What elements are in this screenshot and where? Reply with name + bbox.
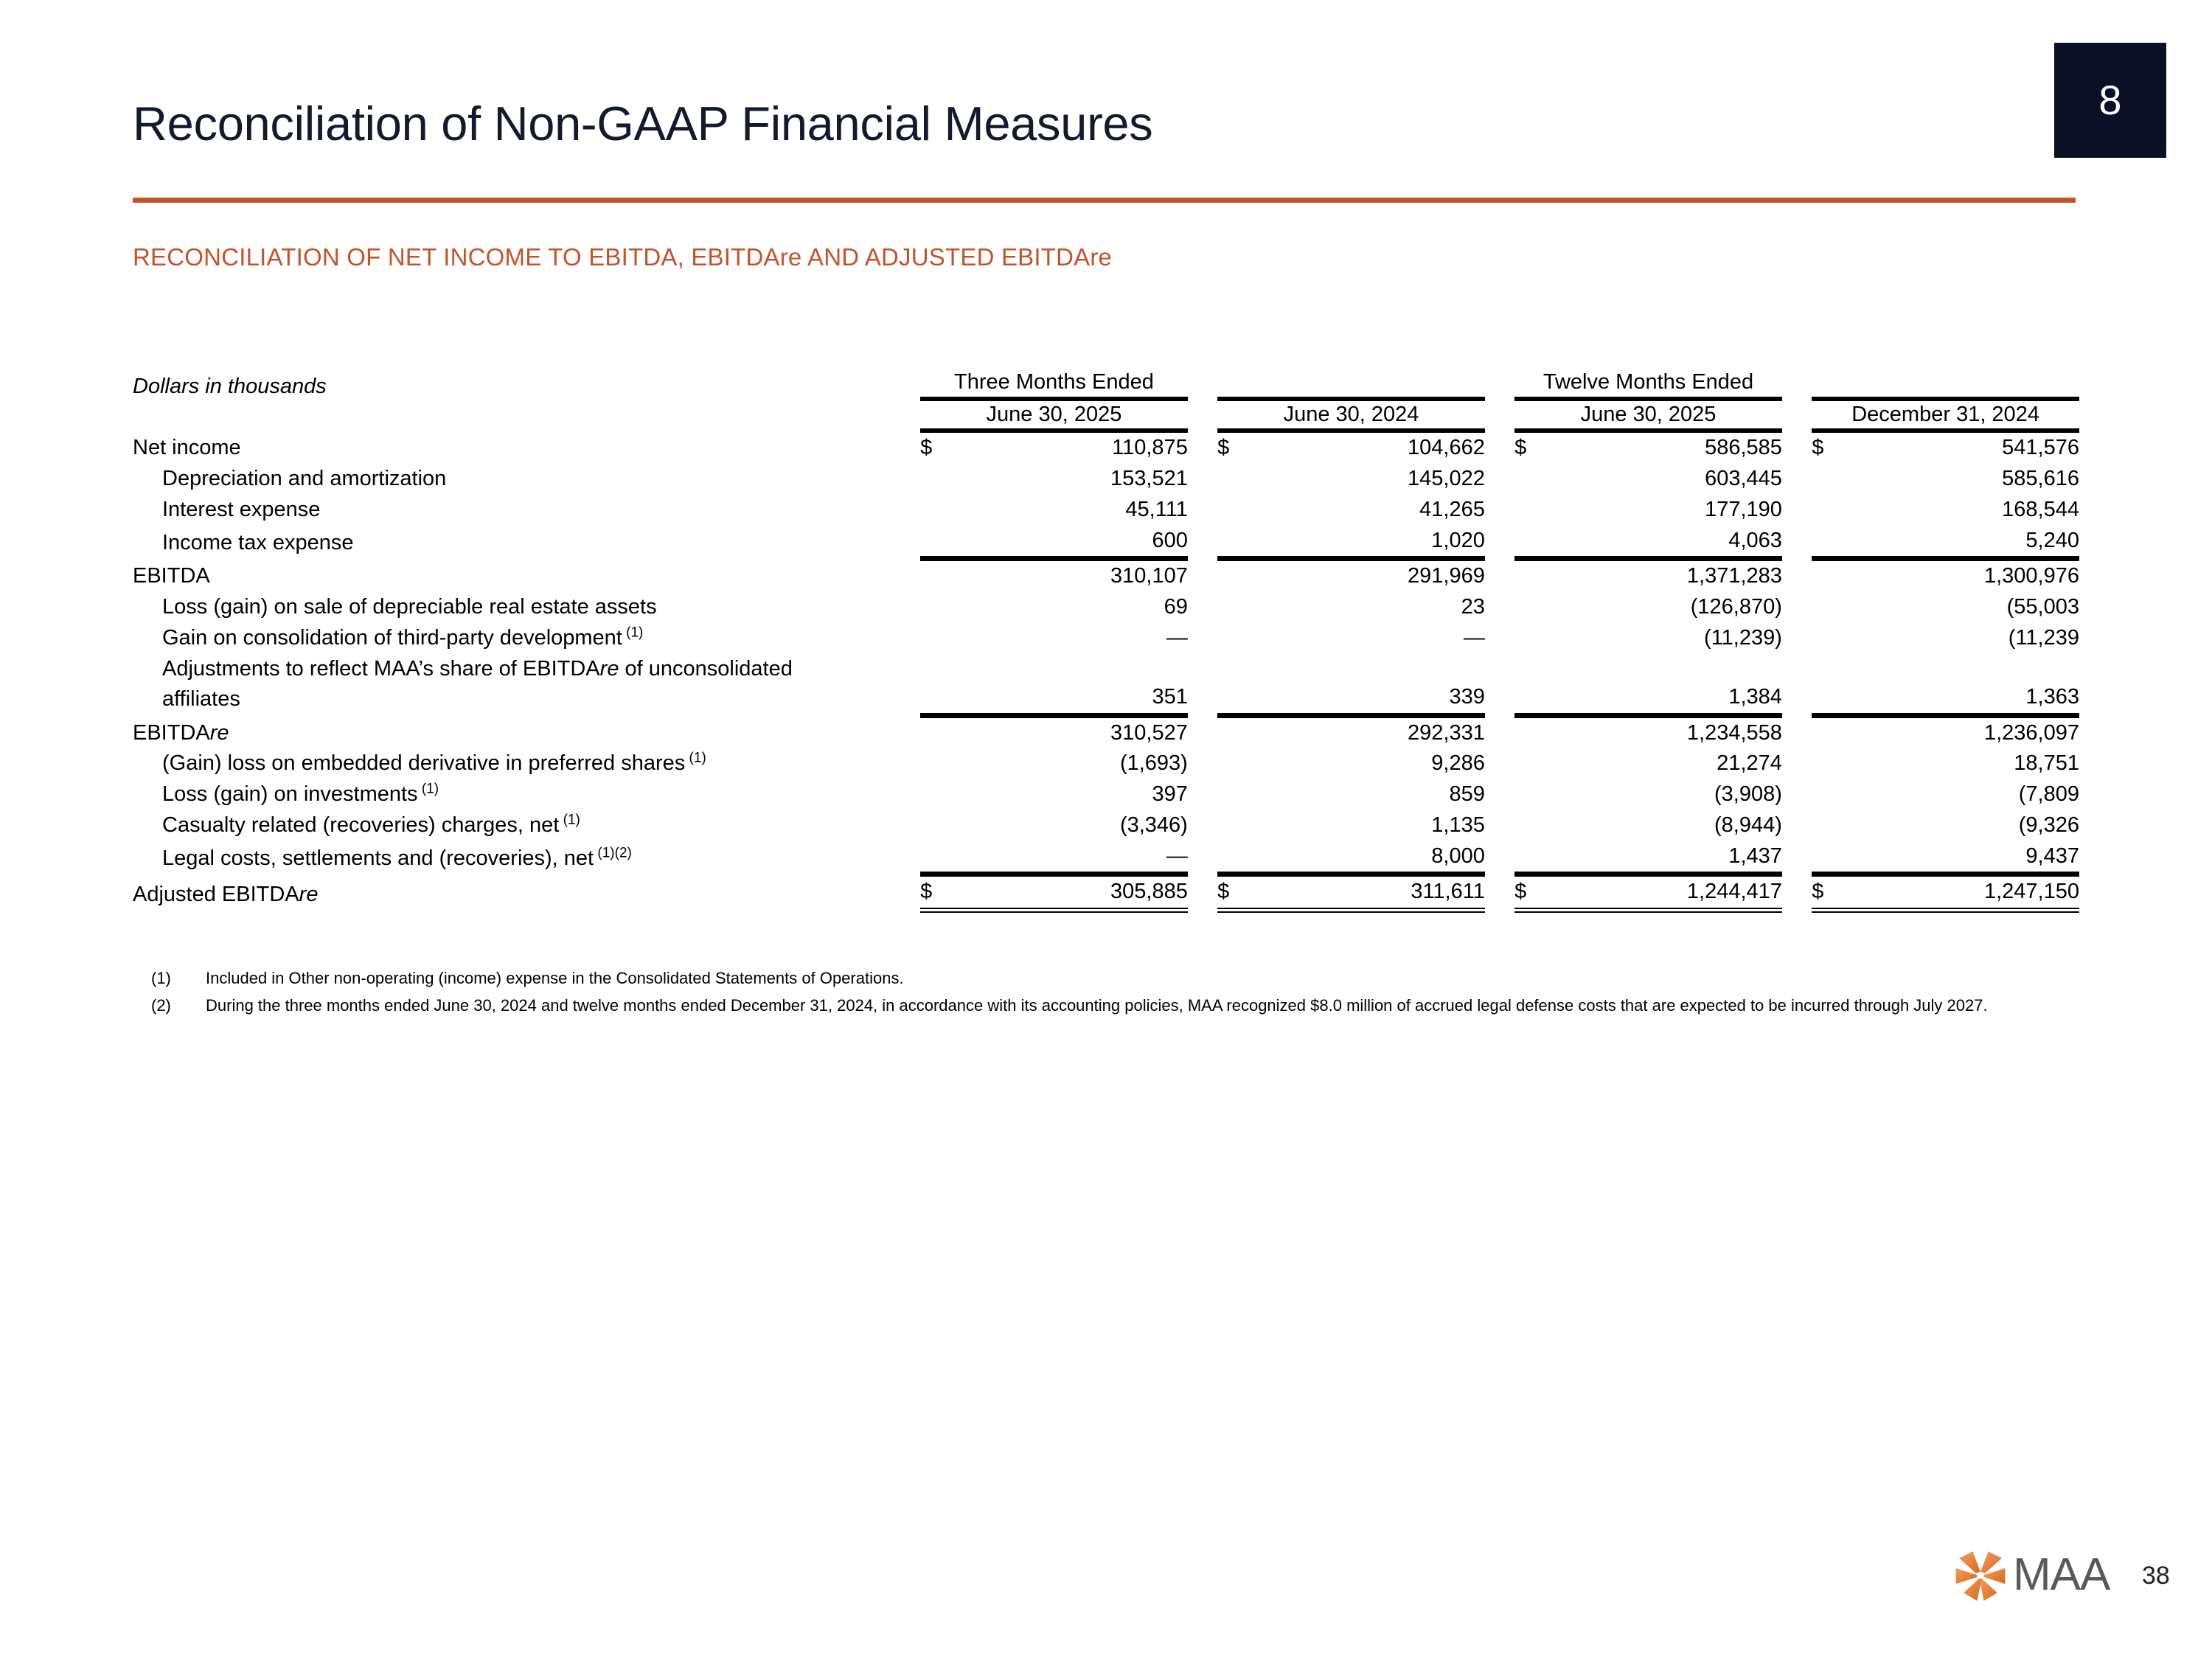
row-label: Legal costs, settlements and (recoveries… <box>133 841 920 874</box>
reconciliation-table: Dollars in thousands Three Months Ended … <box>133 369 2079 913</box>
page-title: Reconciliation of Non-GAAP Financial Mea… <box>133 96 1152 151</box>
currency-symbol <box>1217 592 1253 623</box>
cell-value: 600 <box>956 526 1187 559</box>
cell-value: 1,244,417 <box>1551 874 1782 911</box>
currency-symbol <box>920 623 956 654</box>
currency-symbol <box>1217 748 1253 779</box>
column-gap <box>1188 526 1217 559</box>
currency-symbol <box>1812 748 1847 779</box>
cell-value: 1,371,283 <box>1551 559 1782 592</box>
cell-value: 339 <box>1253 654 1484 716</box>
column-gap <box>1188 715 1217 748</box>
currency-symbol <box>1514 841 1550 874</box>
footnote: (1)Included in Other non-operating (inco… <box>151 966 2098 991</box>
table-row: Income tax expense6001,0204,0635,240 <box>133 526 2079 559</box>
cell-value: 153,521 <box>956 464 1187 495</box>
cell-value: 541,576 <box>1848 431 2079 464</box>
cell-value: (8,944) <box>1551 810 1782 841</box>
currency-symbol: $ <box>1217 431 1253 464</box>
column-gap <box>1485 592 1514 623</box>
cell-value: 177,190 <box>1551 495 1782 526</box>
cell-value: 9,286 <box>1253 748 1484 779</box>
currency-symbol <box>1217 623 1253 654</box>
currency-symbol <box>920 810 956 841</box>
column-gap <box>1782 559 1812 592</box>
column-gap <box>1782 715 1812 748</box>
column-header-2: June 30, 2025 <box>1514 399 1782 431</box>
row-label: Casualty related (recoveries) charges, n… <box>133 810 920 841</box>
footnote-marker: (1) <box>559 812 580 827</box>
cell-value: 4,063 <box>1551 526 1782 559</box>
cell-value: 5,240 <box>1848 526 2079 559</box>
cell-value: 586,585 <box>1551 431 1782 464</box>
currency-symbol <box>1812 526 1847 559</box>
currency-symbol: $ <box>1812 431 1847 464</box>
row-label: Income tax expense <box>133 526 920 559</box>
row-label: Loss (gain) on investments (1) <box>133 779 920 810</box>
currency-symbol <box>1217 779 1253 810</box>
column-gap <box>1782 464 1812 495</box>
column-gap <box>1188 874 1217 911</box>
cell-value: 351 <box>956 654 1187 716</box>
group-header-three-months: Three Months Ended <box>920 369 1188 399</box>
table-row: Casualty related (recoveries) charges, n… <box>133 810 2079 841</box>
column-header-0: June 30, 2025 <box>920 399 1188 431</box>
currency-symbol <box>1514 623 1550 654</box>
column-gap <box>1188 495 1217 526</box>
table-row: Adjustments to reflect MAA’s share of EB… <box>133 654 2079 716</box>
row-label: Adjustments to reflect MAA’s share of EB… <box>133 654 920 716</box>
row-label: Net income <box>133 431 920 464</box>
row-label: Adjusted EBITDAre <box>133 874 920 911</box>
currency-symbol <box>1812 779 1847 810</box>
cell-value: 41,265 <box>1253 495 1484 526</box>
currency-symbol <box>920 526 956 559</box>
page-badge-number: 8 <box>2098 80 2121 121</box>
column-gap <box>1782 841 1812 874</box>
currency-symbol: $ <box>920 874 956 911</box>
section-heading: RECONCILIATION OF NET INCOME TO EBITDA, … <box>133 243 1112 271</box>
column-gap <box>1485 431 1514 464</box>
currency-symbol <box>1812 841 1847 874</box>
currency-symbol <box>920 748 956 779</box>
cell-value: 21,274 <box>1551 748 1782 779</box>
cell-value: — <box>956 841 1187 874</box>
cell-value: 9,437 <box>1848 841 2079 874</box>
table-row: Adjusted EBITDAre$305,885$311,611$1,244,… <box>133 874 2079 911</box>
currency-symbol <box>1514 592 1550 623</box>
group-header-twelve-months-2 <box>1812 369 2079 399</box>
column-gap <box>1485 559 1514 592</box>
cell-value: 585,616 <box>1848 464 2079 495</box>
cell-value: 110,875 <box>956 431 1187 464</box>
cell-value: 1,135 <box>1253 810 1484 841</box>
column-gap <box>1782 431 1812 464</box>
table-row: Loss (gain) on sale of depreciable real … <box>133 592 2079 623</box>
units-note: Dollars in thousands <box>133 369 920 399</box>
cell-value: 859 <box>1253 779 1484 810</box>
row-label: Interest expense <box>133 495 920 526</box>
cell-value: (7,809 <box>1848 779 2079 810</box>
currency-symbol <box>1217 526 1253 559</box>
column-gap <box>1782 526 1812 559</box>
footnote-marker: (1) <box>418 781 439 796</box>
cell-value: 18,751 <box>1848 748 2079 779</box>
column-gap <box>1485 748 1514 779</box>
column-gap <box>1485 464 1514 495</box>
cell-value: 8,000 <box>1253 841 1484 874</box>
currency-symbol <box>1514 810 1550 841</box>
cell-value: 1,300,976 <box>1848 559 2079 592</box>
column-header-3: December 31, 2024 <box>1812 399 2079 431</box>
currency-symbol <box>1812 715 1847 748</box>
group-gap-3 <box>1782 369 1812 399</box>
row-label: Loss (gain) on sale of depreciable real … <box>133 592 920 623</box>
table-body: Net income$110,875$104,662$586,585$541,5… <box>133 431 2079 910</box>
colhead-gap-2 <box>1485 399 1514 431</box>
currency-symbol <box>1812 495 1847 526</box>
column-gap <box>1188 559 1217 592</box>
cell-value: (126,870) <box>1551 592 1782 623</box>
footnote-marker: (1)(2) <box>594 845 632 860</box>
footnote-mark: (1) <box>151 966 206 991</box>
footnote-mark: (2) <box>151 993 206 1018</box>
cell-value: 69 <box>956 592 1187 623</box>
footnote: (2)During the three months ended June 30… <box>151 993 2098 1018</box>
column-gap <box>1485 654 1514 716</box>
column-gap <box>1485 526 1514 559</box>
column-gap <box>1485 841 1514 874</box>
cell-value: 1,384 <box>1551 654 1782 716</box>
column-gap <box>1485 495 1514 526</box>
footnotes-block: (1)Included in Other non-operating (inco… <box>151 966 2098 1020</box>
column-gap <box>1188 779 1217 810</box>
row-label: Depreciation and amortization <box>133 464 920 495</box>
row-label: EBITDAre <box>133 715 920 748</box>
cell-value: 603,445 <box>1551 464 1782 495</box>
currency-symbol <box>1217 654 1253 716</box>
column-gap <box>1188 623 1217 654</box>
page-badge: 8 <box>2054 43 2166 158</box>
title-divider <box>133 198 2076 203</box>
currency-symbol: $ <box>1514 431 1550 464</box>
currency-symbol <box>920 654 956 716</box>
colhead-gap-3 <box>1782 399 1812 431</box>
financial-table-container: Dollars in thousands Three Months Ended … <box>133 369 2079 913</box>
cell-value: 45,111 <box>956 495 1187 526</box>
currency-symbol <box>1514 748 1550 779</box>
column-gap <box>1782 654 1812 716</box>
column-gap <box>1485 779 1514 810</box>
currency-symbol <box>1812 810 1847 841</box>
column-gap <box>1188 431 1217 464</box>
currency-symbol <box>920 495 956 526</box>
maa-flower-icon <box>1952 1547 2008 1603</box>
column-gap <box>1188 810 1217 841</box>
column-gap <box>1782 748 1812 779</box>
table-row: EBITDA310,107291,9691,371,2831,300,976 <box>133 559 2079 592</box>
currency-symbol <box>1514 495 1550 526</box>
group-gap-1 <box>1188 369 1217 399</box>
table-row: Loss (gain) on investments (1)397859(3,9… <box>133 779 2079 810</box>
cell-value: 1,234,558 <box>1551 715 1782 748</box>
footnote-marker: (1) <box>685 751 706 766</box>
footnote-text: Included in Other non-operating (income)… <box>206 966 2064 991</box>
group-header-twelve-months: Twelve Months Ended <box>1514 369 1782 399</box>
currency-symbol <box>920 779 956 810</box>
currency-symbol: $ <box>1217 874 1253 911</box>
maa-logo: MAA <box>1952 1547 2110 1603</box>
currency-symbol <box>1514 464 1550 495</box>
cell-value: 311,611 <box>1253 874 1484 911</box>
column-gap <box>1188 592 1217 623</box>
currency-symbol: $ <box>920 431 956 464</box>
table-row: Depreciation and amortization153,521145,… <box>133 464 2079 495</box>
cell-value: 1,247,150 <box>1848 874 2079 911</box>
currency-symbol <box>1514 559 1550 592</box>
currency-symbol: $ <box>1812 874 1847 911</box>
cell-value: 291,969 <box>1253 559 1484 592</box>
currency-symbol <box>1514 715 1550 748</box>
maa-wordmark: MAA <box>2013 1552 2110 1598</box>
cell-value: (1,693) <box>956 748 1187 779</box>
currency-symbol <box>920 559 956 592</box>
cell-value: 168,544 <box>1848 495 2079 526</box>
column-gap <box>1485 874 1514 911</box>
cell-value: 23 <box>1253 592 1484 623</box>
currency-symbol <box>1514 779 1550 810</box>
group-gap-2 <box>1485 369 1514 399</box>
table-group-header-row: Dollars in thousands Three Months Ended … <box>133 369 2079 399</box>
cell-value: 292,331 <box>1253 715 1484 748</box>
row-label: (Gain) loss on embedded derivative in pr… <box>133 748 920 779</box>
cell-value: 1,020 <box>1253 526 1484 559</box>
column-gap <box>1485 623 1514 654</box>
cell-value: 397 <box>956 779 1187 810</box>
currency-symbol <box>1812 592 1847 623</box>
cell-value: — <box>1253 623 1484 654</box>
currency-symbol <box>920 464 956 495</box>
table-row: Interest expense45,11141,265177,190168,5… <box>133 495 2079 526</box>
currency-symbol: $ <box>1514 874 1550 911</box>
cell-value: (9,326 <box>1848 810 2079 841</box>
table-row: EBITDAre310,527292,3311,234,5581,236,097 <box>133 715 2079 748</box>
table-row: Legal costs, settlements and (recoveries… <box>133 841 2079 874</box>
cell-value: (55,003 <box>1848 592 2079 623</box>
column-header-blank <box>133 399 920 431</box>
currency-symbol <box>1812 623 1847 654</box>
currency-symbol <box>1514 654 1550 716</box>
column-header-1: June 30, 2024 <box>1217 399 1485 431</box>
cell-value: (11,239 <box>1848 623 2079 654</box>
column-gap <box>1782 779 1812 810</box>
colhead-gap-1 <box>1188 399 1217 431</box>
column-gap <box>1782 810 1812 841</box>
cell-value: 310,527 <box>956 715 1187 748</box>
cell-value: (11,239) <box>1551 623 1782 654</box>
group-header-three-months-2 <box>1217 369 1485 399</box>
currency-symbol <box>1812 559 1847 592</box>
slide-canvas: 8 Reconciliation of Non-GAAP Financial M… <box>0 0 2212 1659</box>
table-row: Gain on consolidation of third-party dev… <box>133 623 2079 654</box>
footer-page-number: 38 <box>2142 1562 2170 1590</box>
column-gap <box>1188 841 1217 874</box>
cell-value: 310,107 <box>956 559 1187 592</box>
currency-symbol <box>1812 654 1847 716</box>
cell-value: (3,346) <box>956 810 1187 841</box>
table-column-header-row: June 30, 2025 June 30, 2024 June 30, 202… <box>133 399 2079 431</box>
column-gap <box>1485 810 1514 841</box>
currency-symbol <box>1217 841 1253 874</box>
currency-symbol <box>920 841 956 874</box>
column-gap <box>1188 464 1217 495</box>
currency-symbol <box>1217 495 1253 526</box>
table-row: Net income$110,875$104,662$586,585$541,5… <box>133 431 2079 464</box>
column-gap <box>1782 495 1812 526</box>
column-gap <box>1782 874 1812 911</box>
footnote-text: During the three months ended June 30, 2… <box>206 993 2064 1018</box>
currency-symbol <box>920 592 956 623</box>
cell-value: 104,662 <box>1253 431 1484 464</box>
cell-value: 145,022 <box>1253 464 1484 495</box>
currency-symbol <box>1217 559 1253 592</box>
row-label: EBITDA <box>133 559 920 592</box>
column-gap <box>1782 623 1812 654</box>
column-gap <box>1782 592 1812 623</box>
currency-symbol <box>1812 464 1847 495</box>
footnote-marker: (1) <box>622 625 644 640</box>
currency-symbol <box>1217 464 1253 495</box>
cell-value: 1,363 <box>1848 654 2079 716</box>
column-gap <box>1188 748 1217 779</box>
currency-symbol <box>1217 715 1253 748</box>
cell-value: 1,437 <box>1551 841 1782 874</box>
cell-value: — <box>956 623 1187 654</box>
table-row: (Gain) loss on embedded derivative in pr… <box>133 748 2079 779</box>
currency-symbol <box>1514 526 1550 559</box>
currency-symbol <box>1217 810 1253 841</box>
currency-symbol <box>920 715 956 748</box>
cell-value: (3,908) <box>1551 779 1782 810</box>
cell-value: 305,885 <box>956 874 1187 911</box>
column-gap <box>1188 654 1217 716</box>
cell-value: 1,236,097 <box>1848 715 2079 748</box>
column-gap <box>1485 715 1514 748</box>
row-label: Gain on consolidation of third-party dev… <box>133 623 920 654</box>
